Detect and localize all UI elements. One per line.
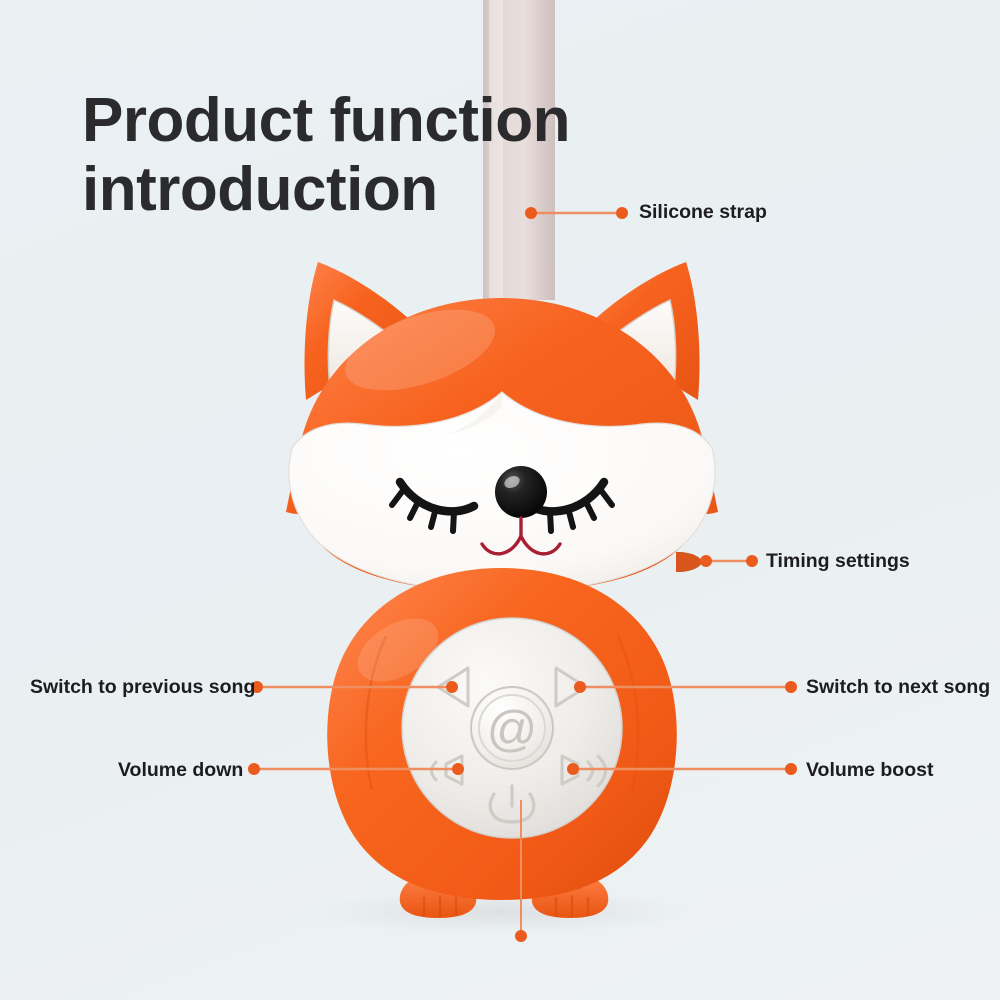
callout-label-timing-settings: Timing settings — [766, 550, 910, 573]
callout-label-switch-to-previous-song: Switch to previous song — [30, 676, 255, 699]
callout-label-switch-to-next-song: Switch to next song — [806, 676, 990, 699]
fox-nose — [495, 466, 547, 518]
callout-label-volume-down: Volume down — [118, 759, 243, 782]
callout-label-volume-boost: Volume boost — [806, 759, 933, 782]
at-symbol-button[interactable]: @ — [471, 687, 553, 769]
timing-button[interactable] — [676, 552, 702, 572]
control-panel[interactable]: @ — [402, 618, 622, 838]
at-symbol-glyph: @ — [487, 701, 538, 757]
infographic-page: @ Product function introduction Silicone… — [0, 0, 1000, 1000]
page-title: Product function introduction — [82, 86, 702, 225]
